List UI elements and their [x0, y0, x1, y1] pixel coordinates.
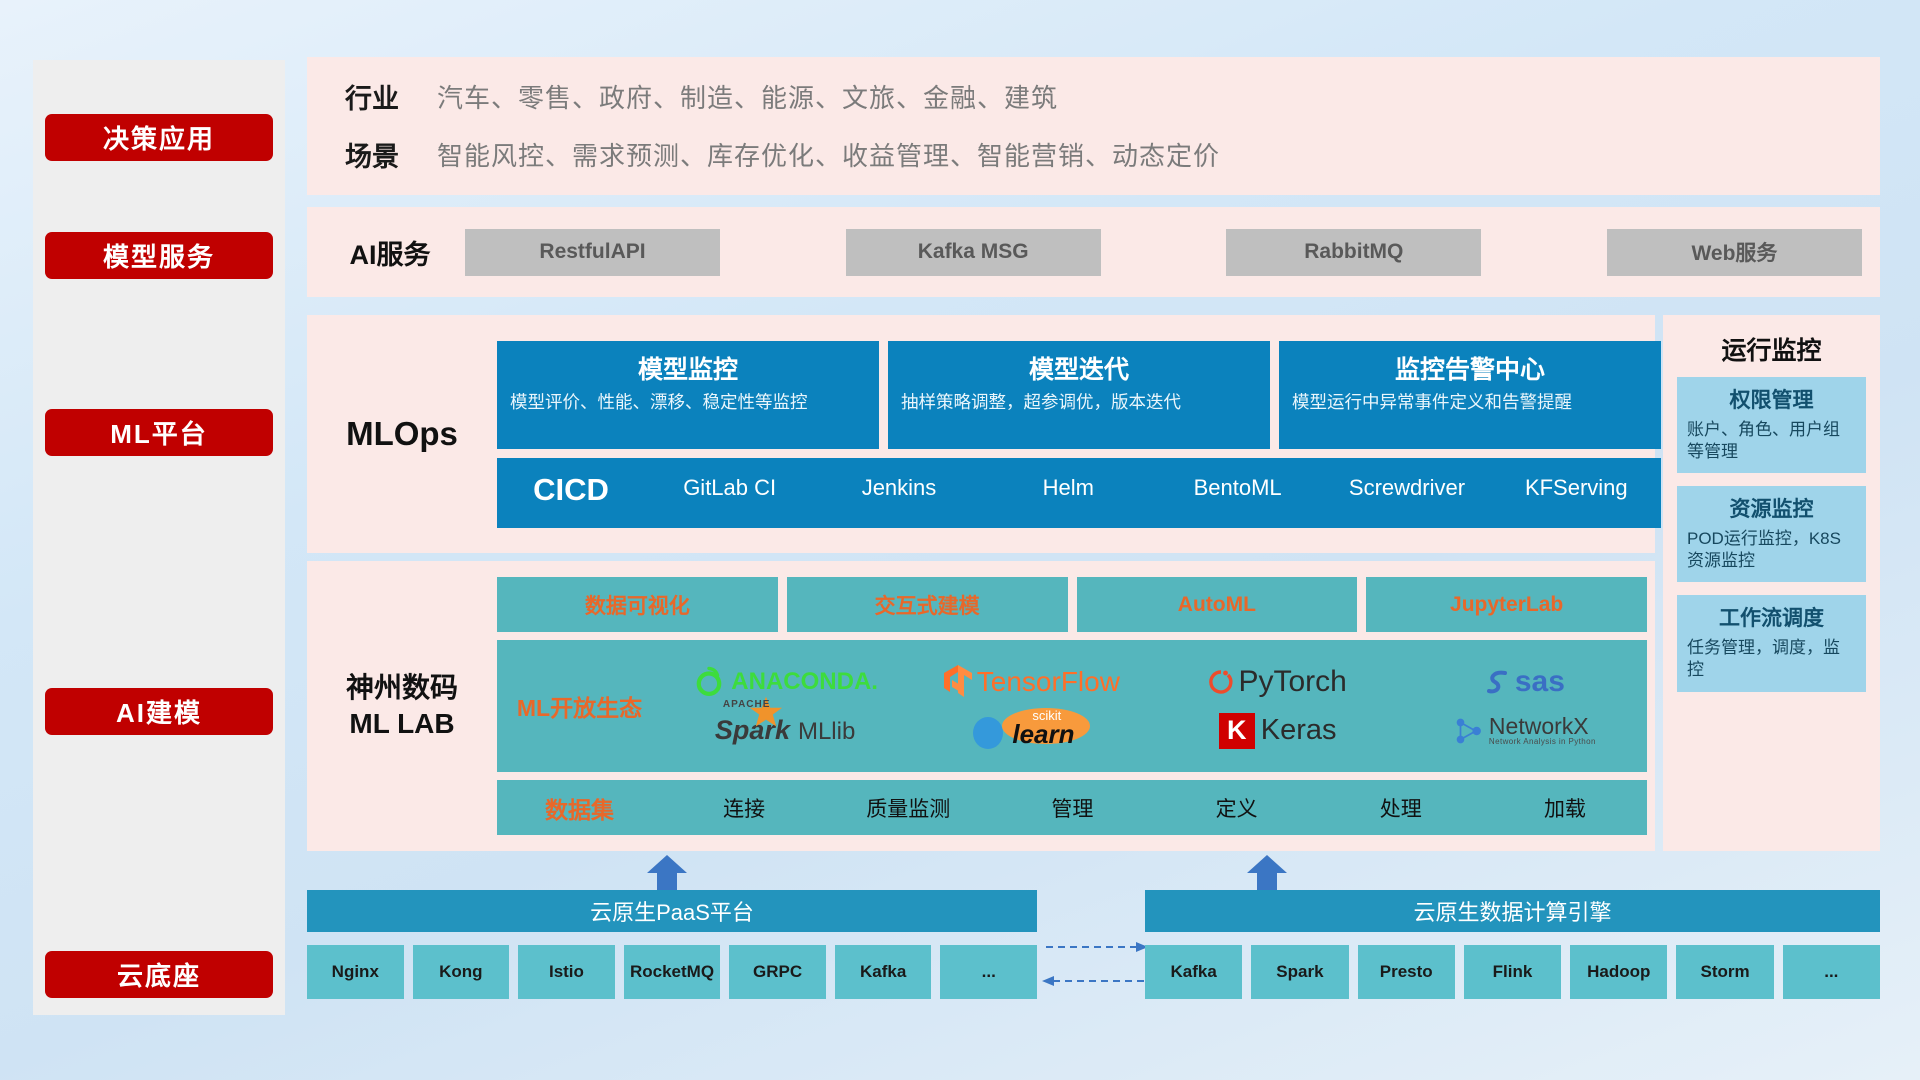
ai-service-band: AI服务 RestfulAPI Kafka MSG RabbitMQ Web服务 — [307, 207, 1880, 297]
mlops-card-desc: 模型运行中异常事件定义和告警提醒 — [1292, 391, 1648, 415]
tab-interactive-modeling[interactable]: 交互式建模 — [787, 577, 1068, 632]
ml-lab-tab-list: 数据可视化 交互式建模 AutoML JupyterLab — [497, 577, 1647, 632]
ai-service-chip[interactable]: Web服务 — [1607, 229, 1862, 276]
learn-text: learn — [1012, 719, 1074, 750]
monitor-card-resource[interactable]: 资源监控 POD运行监控，K8S资源监控 — [1677, 486, 1866, 582]
monitor-card-desc: 任务管理，调度，监控 — [1687, 637, 1856, 681]
cicd-item[interactable]: GitLab CI — [645, 458, 814, 501]
ml-ecosystem-row: ML开放生态 ANACONDA. — [497, 640, 1647, 772]
networkx-tagline: Network Analysis in Python — [1489, 738, 1596, 746]
dataset-label: 数据集 — [497, 791, 662, 825]
tier-label-decision-app: 决策应用 — [45, 114, 273, 161]
industry-value: 汽车、零售、政府、制造、能源、文旅、金融、建筑 — [437, 78, 1058, 115]
ml-lab-label-line1: 神州数码 — [307, 670, 497, 706]
anaconda-logo: ANACONDA. — [692, 665, 878, 699]
monitor-card-title: 权限管理 — [1687, 384, 1856, 414]
paas-chip[interactable]: Kafka — [835, 945, 932, 999]
cloud-engine-bar[interactable]: 云原生数据计算引擎 — [1145, 890, 1880, 932]
keras-mark-icon: K — [1219, 713, 1255, 749]
sas-wordmark: sas — [1515, 665, 1565, 699]
tier-label-ml-platform: ML平台 — [45, 409, 273, 456]
mlops-card-title: 模型监控 — [510, 350, 866, 386]
cicd-title: CICD — [497, 458, 645, 508]
networkx-logo: NetworkX Network Analysis in Python — [1452, 714, 1596, 748]
tensorflow-wordmark: TensorFlow — [977, 666, 1120, 698]
dataset-item[interactable]: 定义 — [1155, 793, 1319, 823]
spark-apache-text: APACHE — [723, 699, 770, 710]
monitor-card-title: 资源监控 — [1687, 493, 1856, 523]
runtime-monitor-panel: 运行监控 权限管理 账户、角色、用户组等管理 资源监控 POD运行监控，K8S资… — [1663, 315, 1880, 851]
scenario-label: 场景 — [307, 135, 437, 174]
scenario-row: 场景 智能风控、需求预测、库存优化、收益管理、智能营销、动态定价 — [307, 129, 1880, 179]
mlops-card[interactable]: 模型迭代 抽样策略调整，超参调优，版本迭代 — [888, 341, 1270, 449]
mlops-card-title: 模型迭代 — [901, 350, 1257, 386]
ml-lab-band: 神州数码 ML LAB 数据可视化 交互式建模 AutoML JupyterLa… — [307, 561, 1655, 851]
mlops-card-list: 模型监控 模型评价、性能、漂移、稳定性等监控 模型迭代 抽样策略调整，超参调优，… — [497, 341, 1661, 449]
keras-logo: K Keras — [1219, 713, 1337, 749]
keras-k-letter: K — [1227, 715, 1247, 746]
tab-data-visualization[interactable]: 数据可视化 — [497, 577, 778, 632]
ml-ecosystem-logo-grid: ANACONDA. TensorFlow — [662, 657, 1647, 755]
cicd-bar: CICD GitLab CI Jenkins Helm BentoML Scre… — [497, 458, 1661, 528]
up-arrow-icon-engine — [1245, 855, 1289, 895]
ml-ecosystem-label: ML开放生态 — [497, 689, 662, 723]
mlops-card-title: 监控告警中心 — [1292, 350, 1648, 386]
monitor-card-title: 工作流调度 — [1687, 602, 1856, 632]
monitor-card-permission[interactable]: 权限管理 账户、角色、用户组等管理 — [1677, 377, 1866, 473]
sas-logo: sas — [1483, 665, 1565, 699]
ai-service-label: AI服务 — [325, 233, 455, 272]
tier-label-ai-modeling: AI建模 — [45, 688, 273, 735]
tensorflow-mark-icon — [943, 664, 973, 700]
dataset-row: 数据集 连接 质量监测 管理 定义 处理 加载 — [497, 780, 1647, 835]
networkx-wordmark: NetworkX — [1489, 715, 1596, 738]
paas-chip-list: Nginx Kong Istio RocketMQ GRPC Kafka ... — [307, 945, 1037, 999]
mlops-label: MLOps — [307, 415, 497, 453]
paas-chip[interactable]: GRPC — [729, 945, 826, 999]
cicd-item[interactable]: Jenkins — [814, 458, 983, 501]
mlops-card-desc: 抽样策略调整，超参调优，版本迭代 — [901, 391, 1257, 415]
mlops-card[interactable]: 模型监控 模型评价、性能、漂移、稳定性等监控 — [497, 341, 879, 449]
ai-service-chip[interactable]: RabbitMQ — [1226, 229, 1481, 276]
cicd-item[interactable]: Screwdriver — [1322, 458, 1491, 501]
paas-chip[interactable]: Nginx — [307, 945, 404, 999]
cloud-paas-bar[interactable]: 云原生PaaS平台 — [307, 890, 1037, 932]
monitor-card-desc: POD运行监控，K8S资源监控 — [1687, 528, 1856, 572]
engine-chip[interactable]: Flink — [1464, 945, 1561, 999]
scenario-value: 智能风控、需求预测、库存优化、收益管理、智能营销、动态定价 — [437, 136, 1220, 173]
tier-label-cloud-base: 云底座 — [45, 951, 273, 998]
sas-mark-icon — [1483, 667, 1513, 697]
monitor-card-workflow[interactable]: 工作流调度 任务管理，调度，监控 — [1677, 595, 1866, 691]
industry-scenario-band: 行业 汽车、零售、政府、制造、能源、文旅、金融、建筑 场景 智能风控、需求预测、… — [307, 57, 1880, 195]
engine-chip[interactable]: Spark — [1251, 945, 1348, 999]
paas-chip[interactable]: RocketMQ — [624, 945, 721, 999]
paas-chip[interactable]: Istio — [518, 945, 615, 999]
bidirectional-dashed-connector — [1040, 935, 1150, 995]
ml-lab-label: 神州数码 ML LAB — [307, 670, 497, 743]
anaconda-wordmark: ANACONDA. — [731, 668, 878, 696]
tab-automl[interactable]: AutoML — [1077, 577, 1358, 632]
ai-service-chip[interactable]: RestfulAPI — [465, 229, 720, 276]
pytorch-wordmark: PyTorch — [1238, 665, 1346, 699]
dataset-item[interactable]: 质量监测 — [826, 793, 990, 823]
paas-chip[interactable]: ... — [940, 945, 1037, 999]
scikit-learn-logo: scikit learn — [968, 706, 1094, 755]
engine-chip[interactable]: Presto — [1358, 945, 1455, 999]
pytorch-logo: PyTorch — [1208, 665, 1346, 699]
tab-jupyterlab[interactable]: JupyterLab — [1366, 577, 1647, 632]
architecture-diagram: 决策应用 模型服务 ML平台 AI建模 云底座 行业 汽车、零售、政府、制造、能… — [0, 0, 1920, 1080]
tier-label-model-service: 模型服务 — [45, 232, 273, 279]
dataset-item[interactable]: 加载 — [1483, 793, 1647, 823]
pytorch-mark-icon — [1208, 666, 1234, 698]
dataset-item[interactable]: 连接 — [662, 793, 826, 823]
dataset-item[interactable]: 管理 — [990, 793, 1154, 823]
ml-lab-label-line2: ML LAB — [307, 706, 497, 742]
dataset-item[interactable]: 处理 — [1319, 793, 1483, 823]
networkx-mark-icon — [1452, 714, 1486, 748]
mllib-wordmark: MLlib — [798, 718, 855, 746]
cicd-item[interactable]: Helm — [984, 458, 1153, 501]
ai-service-chip-list: RestfulAPI Kafka MSG RabbitMQ Web服务 — [455, 229, 1862, 276]
spark-mllib-logo: APACHE Spark MLlib — [715, 715, 855, 746]
up-arrow-icon-paas — [645, 855, 689, 895]
mlops-card[interactable]: 监控告警中心 模型运行中异常事件定义和告警提醒 — [1279, 341, 1661, 449]
runtime-monitor-title: 运行监控 — [1663, 315, 1880, 377]
cicd-item[interactable]: BentoML — [1153, 458, 1322, 501]
engine-chip-list: Kafka Spark Presto Flink Hadoop Storm ..… — [1145, 945, 1880, 999]
tensorflow-logo: TensorFlow — [943, 664, 1120, 700]
engine-chip[interactable]: Hadoop — [1570, 945, 1667, 999]
tier-rail — [33, 60, 285, 1015]
industry-label: 行业 — [307, 77, 437, 116]
anaconda-mark-icon — [692, 665, 726, 699]
paas-chip[interactable]: Kong — [413, 945, 510, 999]
industry-row: 行业 汽车、零售、政府、制造、能源、文旅、金融、建筑 — [307, 71, 1880, 121]
engine-chip[interactable]: Storm — [1676, 945, 1773, 999]
ai-service-chip[interactable]: Kafka MSG — [846, 229, 1101, 276]
engine-chip[interactable]: ... — [1783, 945, 1880, 999]
engine-chip[interactable]: Kafka — [1145, 945, 1242, 999]
cicd-item[interactable]: KFServing — [1492, 458, 1661, 501]
keras-wordmark: Keras — [1261, 714, 1337, 747]
mlops-card-desc: 模型评价、性能、漂移、稳定性等监控 — [510, 391, 866, 415]
mlops-band: MLOps 模型监控 模型评价、性能、漂移、稳定性等监控 模型迭代 抽样策略调整… — [307, 315, 1655, 553]
monitor-card-desc: 账户、角色、用户组等管理 — [1687, 419, 1856, 463]
